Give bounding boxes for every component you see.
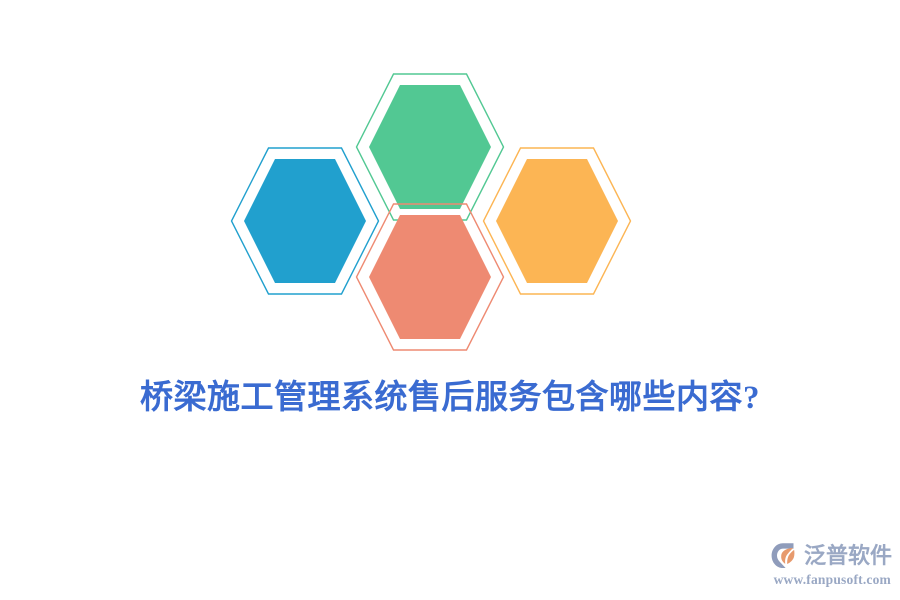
salmon-hexagon-fill <box>369 215 491 339</box>
brand-logo-row: 泛普软件 <box>769 540 892 571</box>
blue-hexagon-fill <box>244 159 366 283</box>
page-title: 桥梁施工管理系统售后服务包含哪些内容? <box>0 378 900 418</box>
brand-name: 泛普软件 <box>804 544 892 568</box>
brand-logo: 泛普软件 www.fanpusoft.com <box>758 540 892 588</box>
hexagon-cluster-graphic <box>230 60 640 350</box>
slide-canvas: 桥梁施工管理系统售后服务包含哪些内容? 泛普软件 www.fanpusoft.c… <box>0 0 900 600</box>
orange-hexagon-fill <box>496 159 618 283</box>
brand-url: www.fanpusoft.com <box>774 572 891 588</box>
green-hexagon-fill <box>369 85 491 209</box>
fanpu-c-swoosh-logo-icon <box>769 540 800 571</box>
